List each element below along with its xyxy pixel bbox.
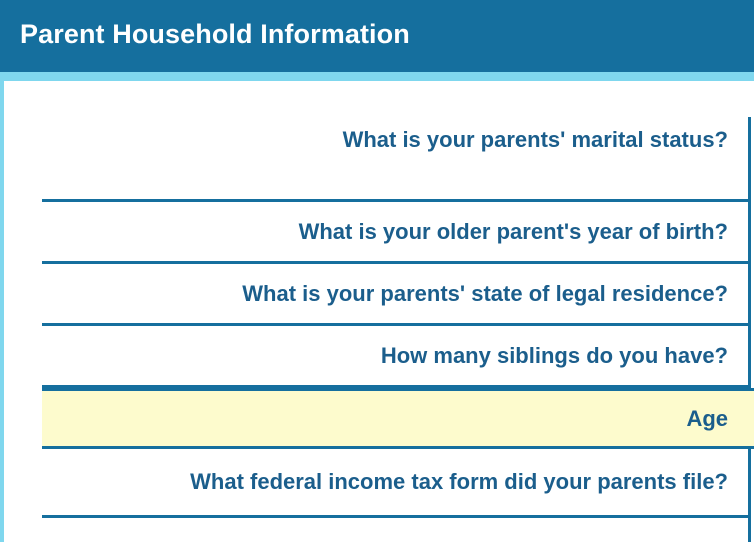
- table-row[interactable]: How many siblings do you have?: [42, 326, 748, 388]
- question-label: Age: [686, 406, 754, 432]
- question-table: What is your parents' marital status? Wh…: [42, 81, 754, 542]
- page-header: Parent Household Information: [0, 0, 754, 72]
- table-row-empty: [42, 518, 748, 548]
- form-panel: What is your parents' marital status? Wh…: [0, 81, 754, 542]
- table-row[interactable]: What is your older parent's year of birt…: [42, 202, 748, 264]
- question-label: What federal income tax form did your pa…: [190, 469, 748, 495]
- answer-column-divider: [748, 117, 751, 542]
- table-row[interactable]: What is your parents' marital status?: [42, 81, 748, 202]
- question-label: What is your older parent's year of birt…: [299, 219, 748, 245]
- table-row-highlighted[interactable]: Age: [42, 388, 754, 449]
- question-label: What is your parents' marital status?: [343, 127, 748, 153]
- header-accent-underline: [0, 72, 754, 81]
- question-label: How many siblings do you have?: [381, 343, 748, 369]
- application-root: Parent Household Information What is you…: [0, 0, 754, 542]
- table-row[interactable]: What federal income tax form did your pa…: [42, 449, 748, 518]
- question-label: What is your parents' state of legal res…: [242, 281, 748, 307]
- page-title: Parent Household Information: [20, 16, 410, 52]
- table-row[interactable]: What is your parents' state of legal res…: [42, 264, 748, 326]
